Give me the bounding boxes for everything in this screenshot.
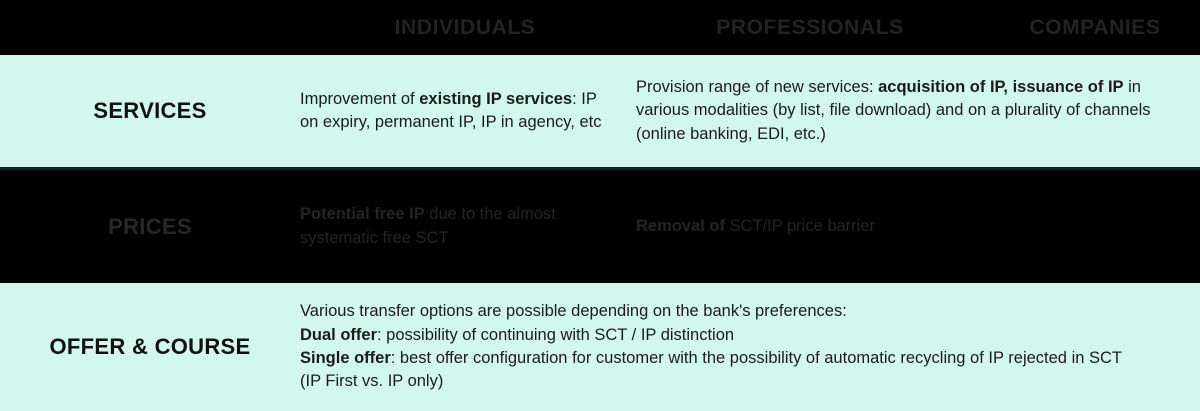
matrix-row-offer-course: OFFER & COURSE Various transfer options … — [0, 283, 1200, 411]
cell-text-suffix: SCT/IP price barrier — [725, 217, 875, 235]
cell-services-professionals: Provision range of new services: acquisi… — [636, 76, 1200, 146]
column-header-individuals: INDIVIDUALS — [300, 16, 630, 40]
comparison-matrix: INDIVIDUALS PROFESSIONALS COMPANIES SERV… — [0, 0, 1200, 411]
cell-text-prefix: Provision range of new services: — [636, 78, 878, 96]
offer-single-emphasis: Single offer — [300, 349, 391, 367]
cell-text-emphasis: Removal of — [636, 217, 725, 235]
cell-text-prefix: Improvement of — [300, 90, 419, 108]
cell-text-emphasis: existing IP services — [419, 90, 572, 108]
cell-prices-individuals: Potential free IP due to the almost syst… — [300, 203, 636, 250]
cell-offer-course-all-columns: Various transfer options are possible de… — [300, 300, 1200, 394]
offer-line-note: (IP First vs. IP only) — [300, 370, 1186, 393]
cell-services-individuals: Improvement of existing IP services: IP … — [300, 88, 636, 135]
offer-line-intro: Various transfer options are possible de… — [300, 300, 1186, 323]
row-label-services: SERVICES — [0, 98, 300, 124]
cell-prices-professionals: Removal of SCT/IP price barrier — [636, 215, 1200, 238]
column-header-companies: COMPANIES — [990, 16, 1200, 40]
offer-dual-emphasis: Dual offer — [300, 326, 377, 344]
matrix-row-prices: PRICES Potential free IP due to the almo… — [0, 170, 1200, 283]
row-label-offer-course: OFFER & COURSE — [0, 334, 300, 360]
row-label-prices: PRICES — [0, 214, 300, 240]
offer-line-single: Single offer: best offer configuration f… — [300, 347, 1186, 370]
matrix-header-row: INDIVIDUALS PROFESSIONALS COMPANIES — [0, 0, 1200, 55]
column-header-professionals: PROFESSIONALS — [630, 16, 990, 40]
cell-text-emphasis: Potential free IP — [300, 205, 425, 223]
cell-text-emphasis: acquisition of IP, issuance of IP — [878, 78, 1123, 96]
offer-line-dual: Dual offer: possibility of continuing wi… — [300, 324, 1186, 347]
offer-single-rest: : best offer configuration for customer … — [391, 349, 1122, 367]
offer-dual-rest: : possibility of continuing with SCT / I… — [377, 326, 734, 344]
matrix-row-services: SERVICES Improvement of existing IP serv… — [0, 55, 1200, 170]
